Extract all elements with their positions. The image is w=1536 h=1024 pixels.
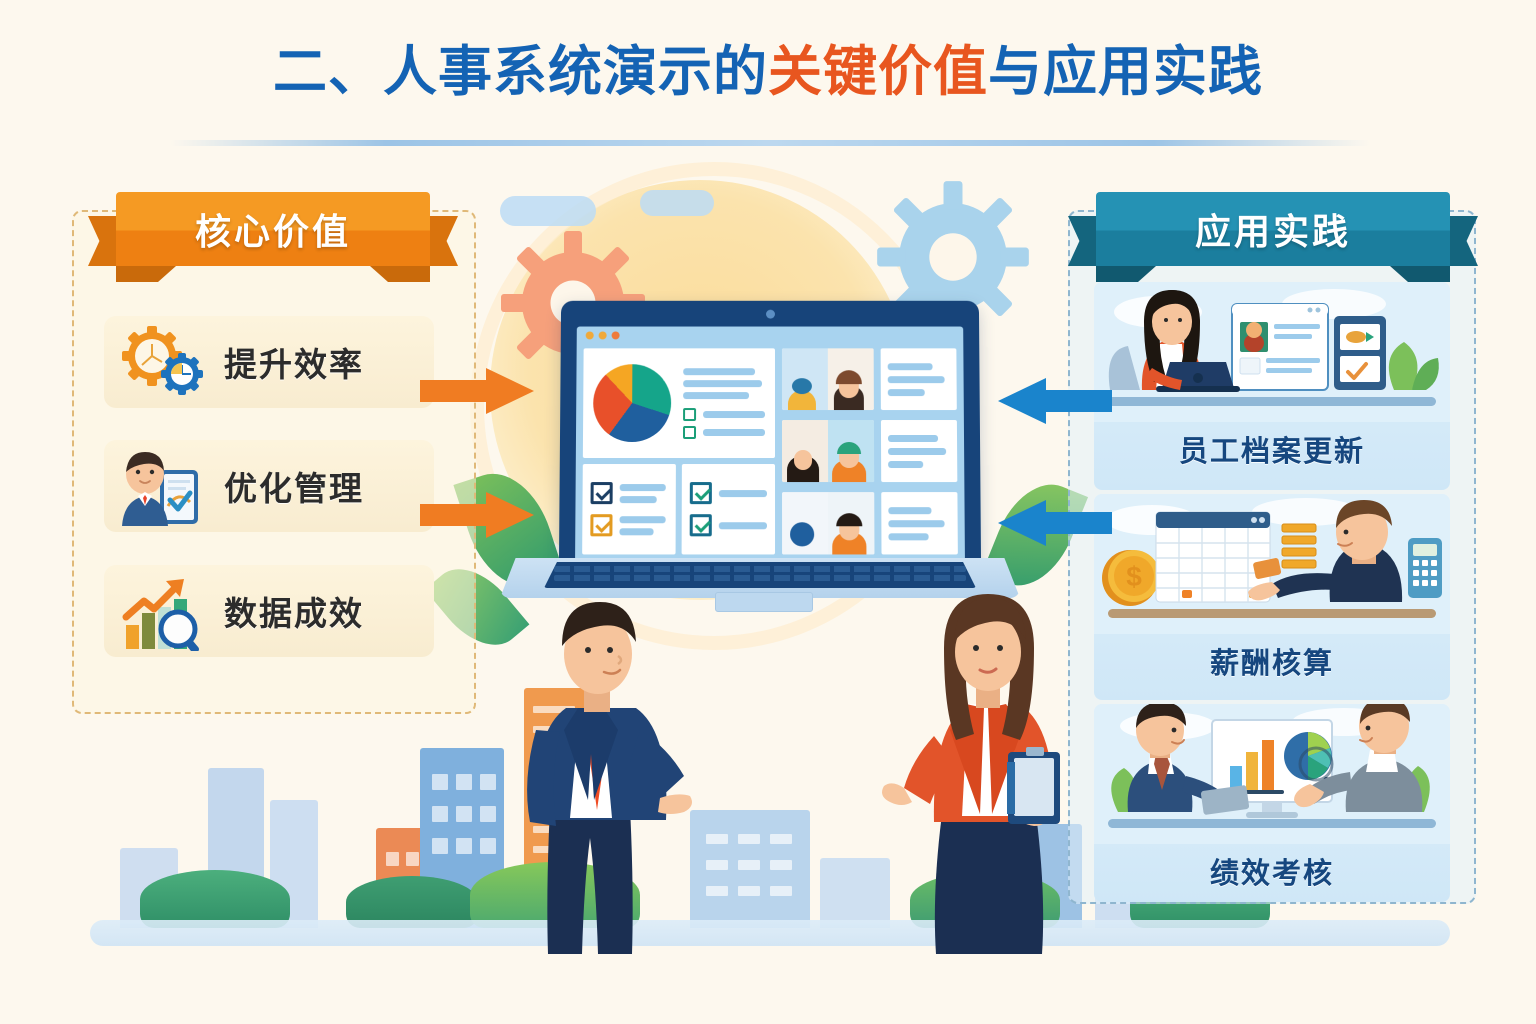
user-avatar-icon [782,420,874,482]
practice-card-profile[interactable]: 员工档案更新 [1094,282,1450,490]
title-suffix: 与应用实践 [988,42,1263,102]
webcam-icon [766,310,775,319]
practice-card-label: 绩效考核 [1094,844,1450,892]
woman-laptop-profile-icon [1094,282,1450,422]
calendar-coin-calculator-icon: $ [1094,494,1450,634]
core-value-banner: 核心价值 [88,192,458,278]
title-prefix: 二、人事系统演示的 [273,42,768,102]
page-title: 二、人事系统演示的关键价值与应用实践 [0,44,1536,101]
value-item-efficiency[interactable]: 提升效率 [104,316,434,408]
user-avatar-icon [782,492,874,554]
manager-tablet-icon [118,448,210,524]
window-dot-icon[interactable] [599,331,607,339]
checkbox-icon[interactable] [683,426,696,439]
checkbox-icon[interactable] [690,482,712,504]
task-card[interactable] [582,464,676,554]
checkbox-icon[interactable] [690,514,712,536]
laptop-lid [559,301,981,573]
svg-text:$: $ [1126,561,1142,592]
employee-list[interactable] [782,348,958,554]
value-item-data[interactable]: 数据成效 [104,565,434,657]
arrow-left-icon [1000,378,1112,424]
window-dot-icon[interactable] [612,331,620,339]
bar-chart-magnifier-icon [118,573,210,649]
title-divider [170,140,1370,146]
core-value-banner-label: 核心价值 [116,192,430,266]
two-men-chart-monitor-icon [1094,704,1450,844]
checkbox-icon[interactable] [590,514,612,536]
value-item-label: 优化管理 [224,462,364,510]
chart-card[interactable] [583,348,775,458]
value-item-label: 数据成效 [224,587,364,635]
browser-titlebar [577,327,964,345]
desk-surface [1108,609,1436,618]
value-item-label: 提升效率 [224,338,364,386]
businesswoman-icon [880,576,1100,965]
approval-card[interactable] [682,464,775,554]
businessman-icon [492,580,712,965]
practice-card-label: 薪酬核算 [1094,634,1450,682]
title-highlight: 关键价值 [768,42,988,102]
infographic-root: 二、人事系统演示的关键价值与应用实践 核心价值 [0,0,1536,1024]
desk-surface [1108,397,1436,406]
checkbox-icon[interactable] [683,408,696,421]
practice-card-performance[interactable]: 绩效考核 [1094,704,1450,902]
cloud-icon [500,196,596,226]
practice-card-label: 员工档案更新 [1094,422,1450,470]
cloud-icon [640,190,714,216]
application-practice-banner: 应用实践 [1068,192,1478,278]
checkbox-icon[interactable] [591,482,613,504]
value-item-management[interactable]: 优化管理 [104,440,434,532]
ground-strip [90,920,1450,946]
practice-card-payroll[interactable]: $ [1094,494,1450,700]
employee-card[interactable] [782,420,957,482]
application-practice-banner-label: 应用实践 [1096,192,1450,266]
desk-surface [1108,819,1436,828]
laptop-trackpad [715,592,813,612]
dashboard-screen[interactable] [575,327,965,561]
employee-card[interactable] [782,492,958,554]
gears-clock-icon [118,324,210,400]
window-dot-icon[interactable] [586,331,594,339]
pie-chart-icon [593,364,671,442]
employee-card[interactable] [782,348,957,410]
arrow-left-icon [1000,500,1112,546]
user-avatar-icon [782,348,874,410]
